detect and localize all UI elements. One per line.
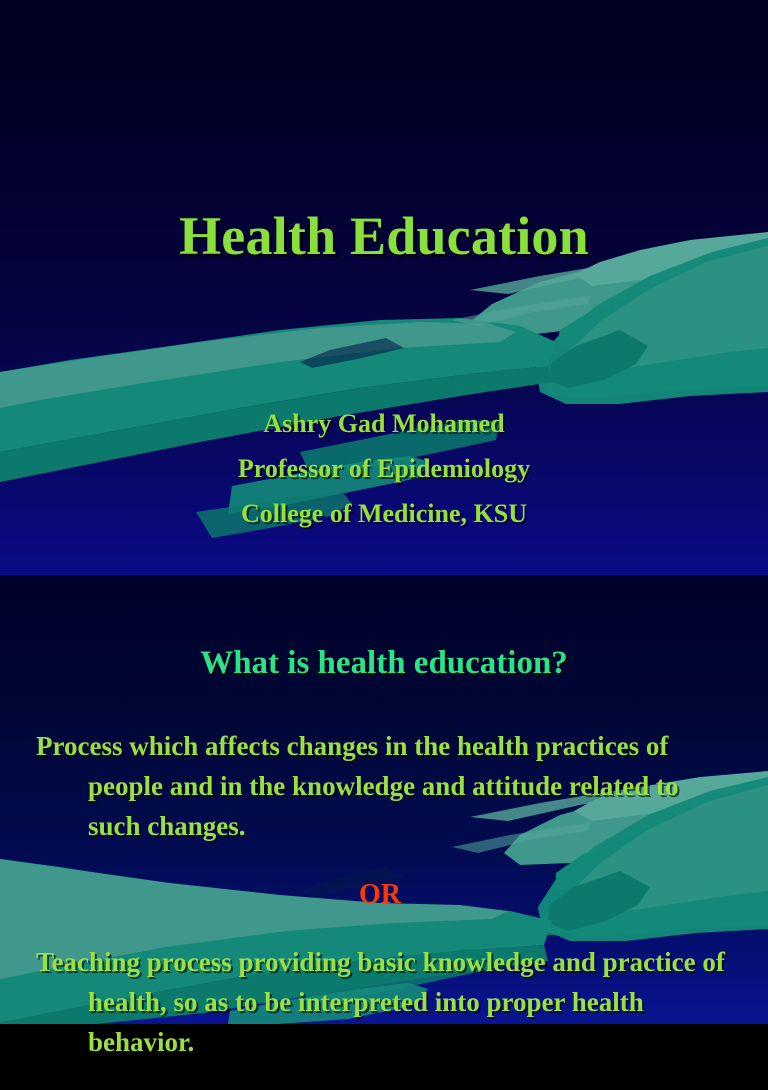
definition-heading: What is health education? [0, 645, 768, 682]
title-slide: Health Education Ashry Gad Mohamed Profe… [0, 0, 768, 575]
author-block: Ashry Gad Mohamed Professor of Epidemiol… [0, 402, 768, 537]
definition-paragraph-2: Teaching process providing basic knowled… [30, 943, 730, 1063]
author-role: Professor of Epidemiology [0, 447, 768, 492]
author-affiliation: College of Medicine, KSU [0, 492, 768, 537]
author-name: Ashry Gad Mohamed [0, 402, 768, 447]
title-slide-content: Health Education Ashry Gad Mohamed Profe… [0, 0, 768, 575]
slide-page: Health Education Ashry Gad Mohamed Profe… [0, 0, 768, 1024]
definition-separator: OR [30, 874, 730, 916]
page-title: Health Education [0, 208, 768, 265]
definition-body: Process which affects changes in the hea… [30, 700, 730, 1090]
definition-paragraph-1: Process which affects changes in the hea… [30, 727, 730, 847]
